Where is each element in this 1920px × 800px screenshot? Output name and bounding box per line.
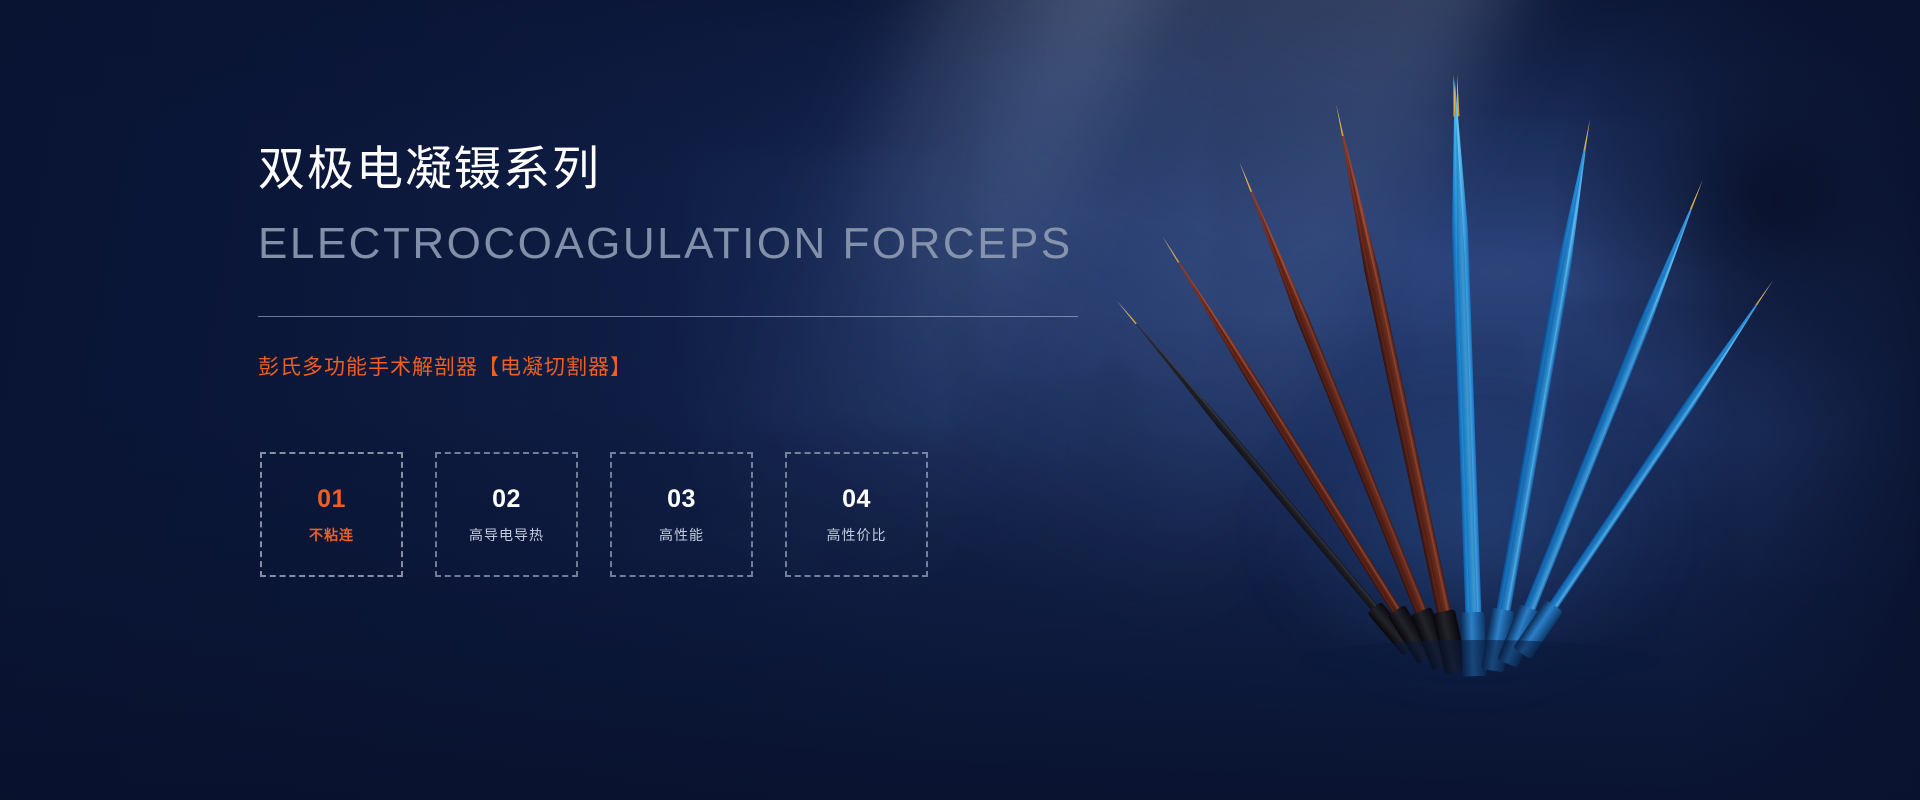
feature-label: 高性价比 (827, 528, 887, 542)
feature-number: 01 (317, 487, 346, 512)
feature-card-04[interactable]: 04 高性价比 (785, 452, 928, 577)
product-tagline: 彭氏多功能手术解剖器【电凝切割器】 (258, 353, 1158, 383)
feature-label: 高性能 (659, 528, 704, 542)
product-hero-banner: 双极电凝镊系列 ELECTROCOAGULATION FORCEPS 彭氏多功能… (0, 0, 1920, 800)
feature-label: 高导电导热 (469, 528, 544, 542)
divider (258, 316, 1078, 317)
hero-text-block: 双极电凝镊系列 ELECTROCOAGULATION FORCEPS 彭氏多功能… (258, 140, 1158, 383)
feature-card-01[interactable]: 01 不粘连 (260, 452, 403, 577)
forceps-item (1324, 102, 1467, 674)
forceps-item (1442, 74, 1487, 676)
feature-list: 01 不粘连 02 高导电导热 03 高性能 04 高性价比 (260, 452, 928, 577)
feature-number: 03 (667, 487, 696, 512)
page-subtitle-en: ELECTROCOAGULATION FORCEPS (258, 216, 1158, 272)
feature-card-03[interactable]: 03 高性能 (610, 452, 753, 577)
feature-card-02[interactable]: 02 高导电导热 (435, 452, 578, 577)
forceps-product-image (1060, 60, 1820, 700)
feature-number: 02 (492, 487, 521, 512)
page-title: 双极电凝镊系列 (258, 140, 1158, 198)
feature-label: 不粘连 (309, 528, 354, 542)
forceps-item (1229, 158, 1453, 671)
feature-number: 04 (842, 487, 871, 512)
